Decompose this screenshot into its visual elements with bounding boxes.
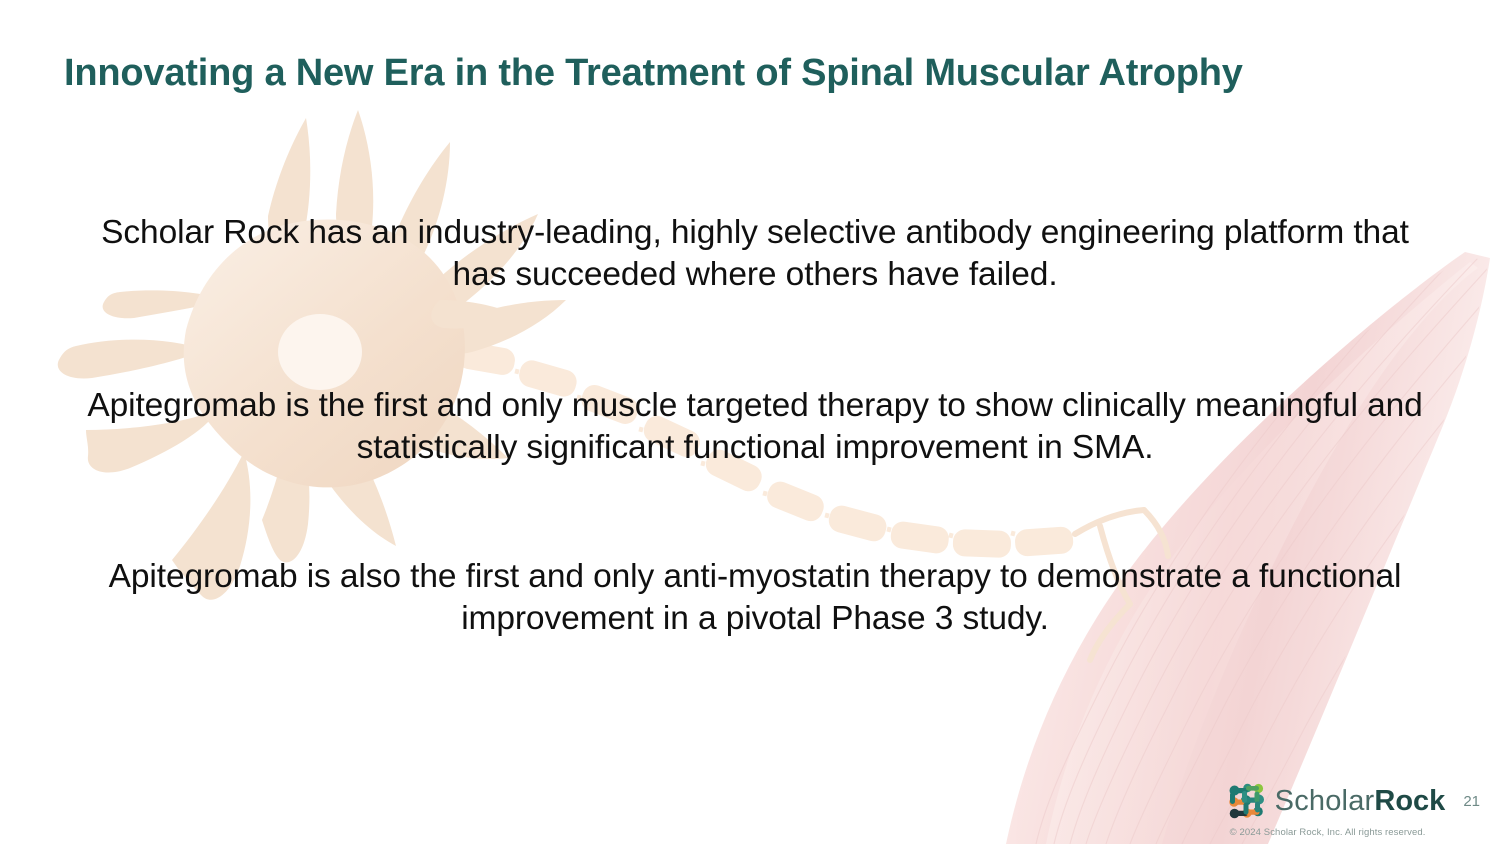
page-number: 21 (1463, 793, 1480, 810)
slide-canvas: Innovating a New Era in the Treatment of… (0, 0, 1500, 844)
logo-word-scholar: Scholar (1275, 785, 1375, 817)
statement-apitegromab-muscle-targeted: Apitegromab is the first and only muscle… (70, 385, 1440, 468)
logo-row: ScholarRock (1228, 783, 1446, 820)
logo-word-rock: Rock (1374, 785, 1445, 817)
statement-apitegromab-anti-myostatin: Apitegromab is also the first and only a… (70, 556, 1440, 639)
page-title: Innovating a New Era in the Treatment of… (64, 52, 1454, 96)
logo-wordmark: ScholarRock (1275, 787, 1446, 816)
statements-list: Scholar Rock has an industry-leading, hi… (70, 212, 1440, 639)
slide-footer: ScholarRock © 2024 Scholar Rock, Inc. Al… (1228, 783, 1500, 838)
copyright-text: © 2024 Scholar Rock, Inc. All rights res… (1230, 827, 1426, 838)
scholar-rock-logo-icon (1228, 783, 1266, 820)
statement-platform: Scholar Rock has an industry-leading, hi… (70, 212, 1440, 295)
scholar-rock-logo: ScholarRock © 2024 Scholar Rock, Inc. Al… (1228, 783, 1446, 838)
